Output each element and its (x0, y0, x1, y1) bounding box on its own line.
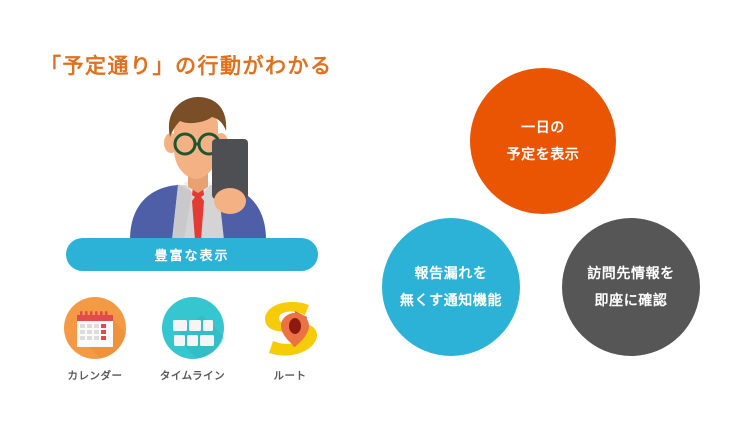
feature-item-route[interactable]: ルート (245, 297, 335, 383)
feature-icon-row: カレンダー タイムライン (50, 297, 335, 383)
feature-label-timeline: タイムライン (160, 368, 225, 383)
bubble-visit-line1: 訪問先情報を (587, 260, 675, 287)
calendar-icon (64, 297, 126, 359)
bubble-schedule-line2: 予定を表示 (507, 141, 580, 168)
route-icon (259, 297, 321, 359)
bubble-notify[interactable]: 報告漏れを 無くす通知機能 (382, 218, 520, 356)
bubble-schedule-line1: 一日の (521, 114, 565, 141)
bubble-visit[interactable]: 訪問先情報を 即座に確認 (562, 218, 700, 356)
businessman-illustration (100, 95, 285, 240)
feature-label-calendar: カレンダー (68, 368, 123, 383)
timeline-icon (162, 297, 224, 359)
bubble-schedule[interactable]: 一日の 予定を表示 (470, 68, 616, 214)
pill-label: 豊富な表示 (154, 245, 229, 264)
bubble-notify-line1: 報告漏れを (415, 260, 488, 287)
bubble-visit-line2: 即座に確認 (595, 287, 668, 314)
rich-display-pill[interactable]: 豊富な表示 (66, 238, 318, 271)
feature-item-timeline[interactable]: タイムライン (148, 297, 238, 383)
slide-canvas: 「予定通り」の行動がわかる (0, 0, 750, 421)
bubble-notify-line2: 無くす通知機能 (400, 287, 502, 314)
page-title: 「予定通り」の行動がわかる (40, 50, 333, 80)
feature-item-calendar[interactable]: カレンダー (50, 297, 140, 383)
feature-label-route: ルート (274, 368, 307, 383)
